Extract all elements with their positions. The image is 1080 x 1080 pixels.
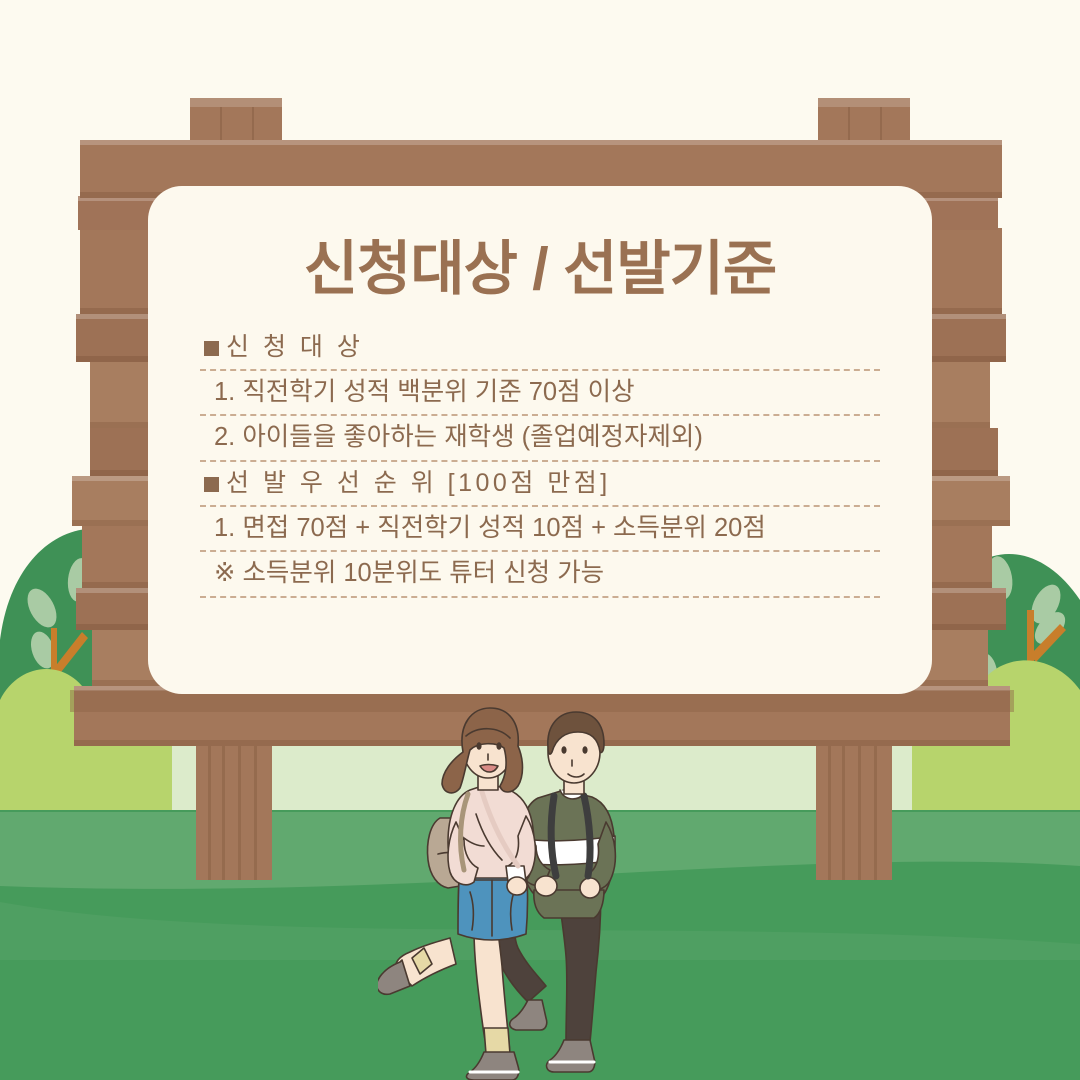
list-item: 1. 면접 70점 + 직전학기 성적 10점 + 소득분위 20점 xyxy=(202,507,878,553)
list-item-label: 2. 아이들을 좋아하는 재학생 (졸업예정자제외) xyxy=(202,416,878,460)
post-cap-right xyxy=(818,98,910,144)
poster-canvas: 신청대상 / 선발기준 신 청 대 상 1. 직전학기 성적 백분위 기준 70… xyxy=(0,0,1080,1080)
list-item: 1. 직전학기 성적 백분위 기준 70점 이상 xyxy=(202,371,878,417)
page-title: 신청대상 / 선발기준 xyxy=(188,236,892,304)
square-bullet-icon xyxy=(204,341,219,356)
couple-walking-illustration xyxy=(378,690,668,1080)
list-item-label: 1. 직전학기 성적 백분위 기준 70점 이상 xyxy=(202,371,878,415)
list-heading-priority: 선 발 우 선 순 위 [100점 만점] xyxy=(202,462,878,507)
heading-label: 선 발 우 선 순 위 [100점 만점] xyxy=(226,469,611,497)
heading-label: 신 청 대 상 xyxy=(226,333,363,361)
square-bullet-icon xyxy=(204,477,219,492)
note-label: ※ 소득분위 10분위도 튜터 신청 가능 xyxy=(202,552,878,596)
list-note: ※ 소득분위 10분위도 튜터 신청 가능 xyxy=(202,552,878,598)
list-item-label: 1. 면접 70점 + 직전학기 성적 10점 + 소득분위 20점 xyxy=(202,507,878,551)
divider xyxy=(200,596,880,598)
list-item: 2. 아이들을 좋아하는 재학생 (졸업예정자제외) xyxy=(202,416,878,462)
post-cap-left xyxy=(190,98,282,144)
sign-text-panel: 신청대상 / 선발기준 신 청 대 상 1. 직전학기 성적 백분위 기준 70… xyxy=(148,186,932,694)
sign-content-list: 신 청 대 상 1. 직전학기 성적 백분위 기준 70점 이상 2. 아이들을… xyxy=(188,326,892,598)
list-heading-applicants: 신 청 대 상 xyxy=(202,326,878,371)
